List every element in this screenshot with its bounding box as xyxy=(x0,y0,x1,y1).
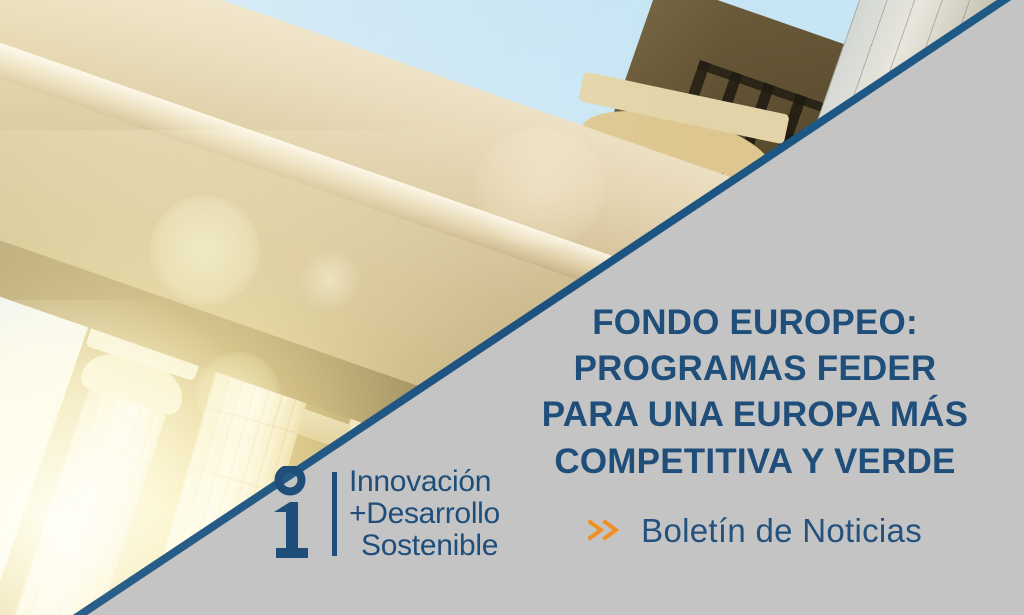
headline: FONDO EUROPEO: PROGRAMAS FEDER PARA UNA … xyxy=(520,300,990,485)
logo-i-icon xyxy=(268,466,320,562)
headline-line-2: PROGRAMAS FEDER xyxy=(520,346,990,392)
headline-line-4: COMPETITIVA Y VERDE xyxy=(520,439,990,485)
logo-wordmark: Innovación +Desarrollo Sostenible xyxy=(349,466,500,562)
subtitle-text: Boletín de Noticias xyxy=(641,512,922,549)
logo-line-1: Innovación xyxy=(349,466,500,498)
logo-line-3: Sostenible xyxy=(361,530,500,562)
headline-line-1: FONDO EUROPEO: xyxy=(520,300,990,346)
logo: Innovación +Desarrollo Sostenible xyxy=(268,466,500,562)
subtitle: Boletín de Noticias xyxy=(520,512,990,550)
headline-line-3: PARA UNA EUROPA MÁS xyxy=(520,392,990,438)
newsletter-banner: FONDO EUROPEO: PROGRAMAS FEDER PARA UNA … xyxy=(0,0,1024,615)
double-chevron-icon xyxy=(588,512,631,549)
logo-divider xyxy=(332,472,337,556)
logo-line-2: +Desarrollo xyxy=(349,498,500,530)
